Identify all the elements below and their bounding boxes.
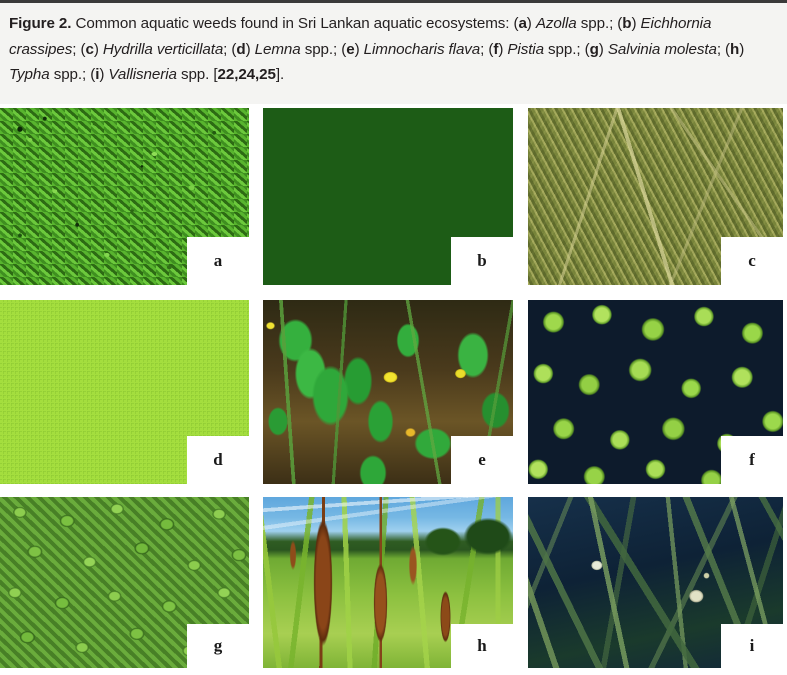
panel-label-h: h <box>451 624 513 668</box>
figure-caption-text: Figure 2. Common aquatic weeds found in … <box>9 11 781 88</box>
panel-label-a: a <box>187 237 249 285</box>
panel-label-c: c <box>721 237 783 285</box>
panel-label-d: d <box>187 436 249 484</box>
figure-panel-i: i <box>528 497 783 668</box>
figure-panel-b: b <box>263 108 513 285</box>
figure-image-grid: a b c d e f g h i <box>0 108 787 675</box>
figure-panel-a: a <box>0 108 249 285</box>
panel-label-e: e <box>451 436 513 484</box>
figure-panel-g: g <box>0 497 249 668</box>
panel-label-f: f <box>721 436 783 484</box>
figure-panel-d: d <box>0 300 249 484</box>
figure-caption-band: Figure 2. Common aquatic weeds found in … <box>0 0 787 104</box>
figure-panel-c: c <box>528 108 783 285</box>
figure-panel-f: f <box>528 300 783 484</box>
figure-panel-e: e <box>263 300 513 484</box>
figure-panel-h: h <box>263 497 513 668</box>
panel-label-i: i <box>721 624 783 668</box>
panel-label-g: g <box>187 624 249 668</box>
panel-label-b: b <box>451 237 513 285</box>
